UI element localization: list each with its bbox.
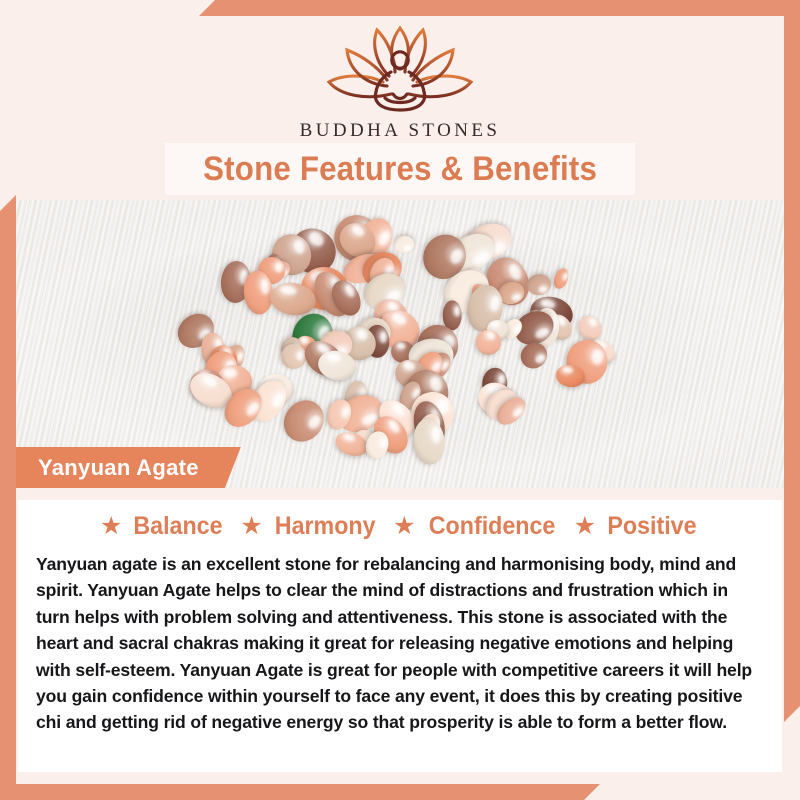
keyword-item: ★Confidence — [393, 512, 560, 541]
description-text: Yanyuan agate is an excellent stone for … — [36, 551, 764, 736]
keyword-label: Balance — [134, 512, 223, 541]
page-title-plate: Stone Features & Benefits — [165, 143, 635, 195]
keyword-item: ★Balance — [100, 512, 226, 541]
stone-photo — [12, 200, 788, 488]
star-icon: ★ — [100, 514, 122, 539]
star-icon: ★ — [240, 514, 262, 539]
frame-bottom-accent — [0, 784, 800, 800]
star-icon: ★ — [393, 514, 415, 539]
lotus-meditation-icon — [305, 20, 495, 116]
brand-logo: BUDDHA STONES — [0, 20, 800, 142]
frame-right-accent — [784, 0, 800, 800]
brand-name: BUDDHA STONES — [0, 120, 800, 142]
keyword-item: ★Positive — [574, 512, 700, 541]
stone-name-label: Yanyuan Agate — [38, 455, 199, 481]
keyword-label: Confidence — [428, 512, 555, 541]
content-panel: ★Balance★Harmony★Confidence★Positive Yan… — [18, 500, 782, 772]
keyword-list: ★Balance★Harmony★Confidence★Positive — [18, 500, 782, 541]
keyword-label: Positive — [607, 512, 696, 541]
keyword-label: Harmony — [275, 512, 376, 541]
infographic-page: BUDDHA STONES Stone Features & Benefits … — [0, 0, 800, 800]
page-title: Stone Features & Benefits — [203, 150, 597, 189]
star-icon: ★ — [574, 514, 596, 539]
stone-name-tab: Yanyuan Agate — [12, 447, 241, 488]
keyword-item: ★Harmony — [240, 512, 379, 541]
